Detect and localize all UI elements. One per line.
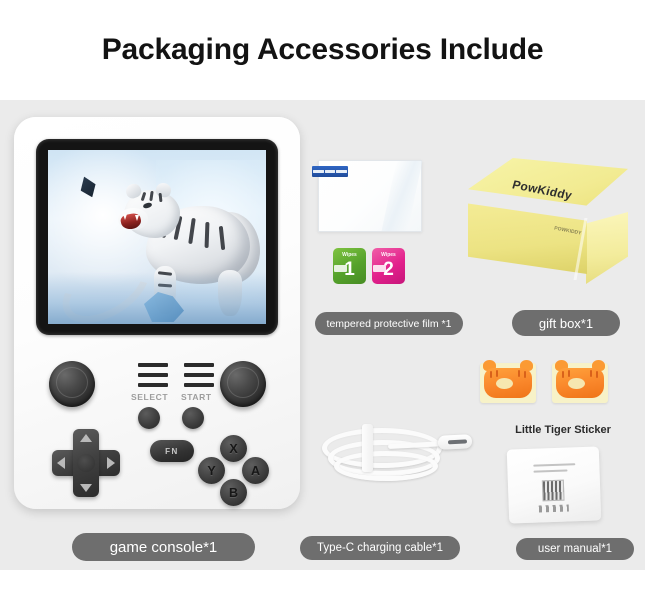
- wipe-2-text: Wipes: [372, 252, 405, 258]
- manual-text-line: [533, 470, 567, 473]
- analog-stick-left[interactable]: [49, 361, 95, 407]
- select-label: SELECT: [131, 392, 168, 402]
- wipe-2-tag: [373, 265, 386, 272]
- label-little-tiger-sticker: Little Tiger Sticker: [498, 424, 628, 436]
- dpad-right-arrow-icon[interactable]: [107, 457, 115, 469]
- manual-qr-code: [542, 480, 565, 502]
- product-accessories-infographic: Packaging Accessories Include: [0, 0, 645, 600]
- label-game-console: game console*1: [72, 533, 255, 561]
- select-button[interactable]: [138, 407, 160, 429]
- dpad-left-arrow-icon[interactable]: [57, 457, 65, 469]
- select-bars-icon: [138, 363, 168, 387]
- gift-box-side: [586, 212, 628, 284]
- wet-wipe-packet-2: Wipes 2: [372, 248, 405, 284]
- dpad[interactable]: [52, 429, 120, 497]
- wet-wipe-packet-1: Wipes 1: [333, 248, 366, 284]
- cable-tie: [362, 424, 373, 472]
- manual-icon-row: [539, 504, 569, 512]
- console-screen-bezel: [36, 139, 278, 335]
- manual-text-line: [533, 463, 575, 466]
- page-title: Packaging Accessories Include: [102, 33, 544, 67]
- start-bars-icon: [184, 363, 214, 387]
- tiger-sticker: [552, 363, 608, 403]
- little-tiger-stickers-image: [480, 363, 630, 405]
- button-y[interactable]: Y: [198, 457, 225, 484]
- button-x[interactable]: X: [220, 435, 247, 462]
- gift-box-image: PowKiddy POWKIDDY: [468, 158, 628, 298]
- label-type-c-charging-cable: Type-C charging cable*1: [300, 536, 460, 560]
- wipe-1-text: Wipes: [333, 252, 366, 258]
- tiger-sticker: [480, 363, 536, 403]
- usb-c-connector: [438, 434, 473, 450]
- game-console-image: SELECT START FN X Y A B: [14, 117, 300, 509]
- user-manual-image: [507, 446, 602, 523]
- console-screen: [48, 150, 266, 324]
- title-bar: Packaging Accessories Include: [0, 0, 645, 100]
- button-b[interactable]: B: [220, 479, 247, 506]
- cable-loop: [334, 451, 438, 481]
- sticker-snout: [568, 378, 585, 389]
- film-pull-tab-sticker: [312, 166, 348, 177]
- dpad-center: [77, 454, 95, 472]
- wipe-1-tag: [334, 265, 347, 272]
- label-user-manual: user manual*1: [516, 538, 634, 560]
- dpad-up-arrow-icon[interactable]: [80, 434, 92, 442]
- button-a[interactable]: A: [242, 457, 269, 484]
- gift-box-front: [468, 202, 587, 274]
- analog-stick-right[interactable]: [220, 361, 266, 407]
- dpad-down-arrow-icon[interactable]: [80, 484, 92, 492]
- start-label: START: [181, 392, 212, 402]
- function-button[interactable]: FN: [150, 440, 194, 462]
- label-gift-box: gift box*1: [512, 310, 620, 336]
- start-button[interactable]: [182, 407, 204, 429]
- type-c-cable-image: [318, 418, 478, 510]
- sticker-snout: [496, 378, 513, 389]
- label-tempered-protective-film: tempered protective film *1: [315, 312, 463, 335]
